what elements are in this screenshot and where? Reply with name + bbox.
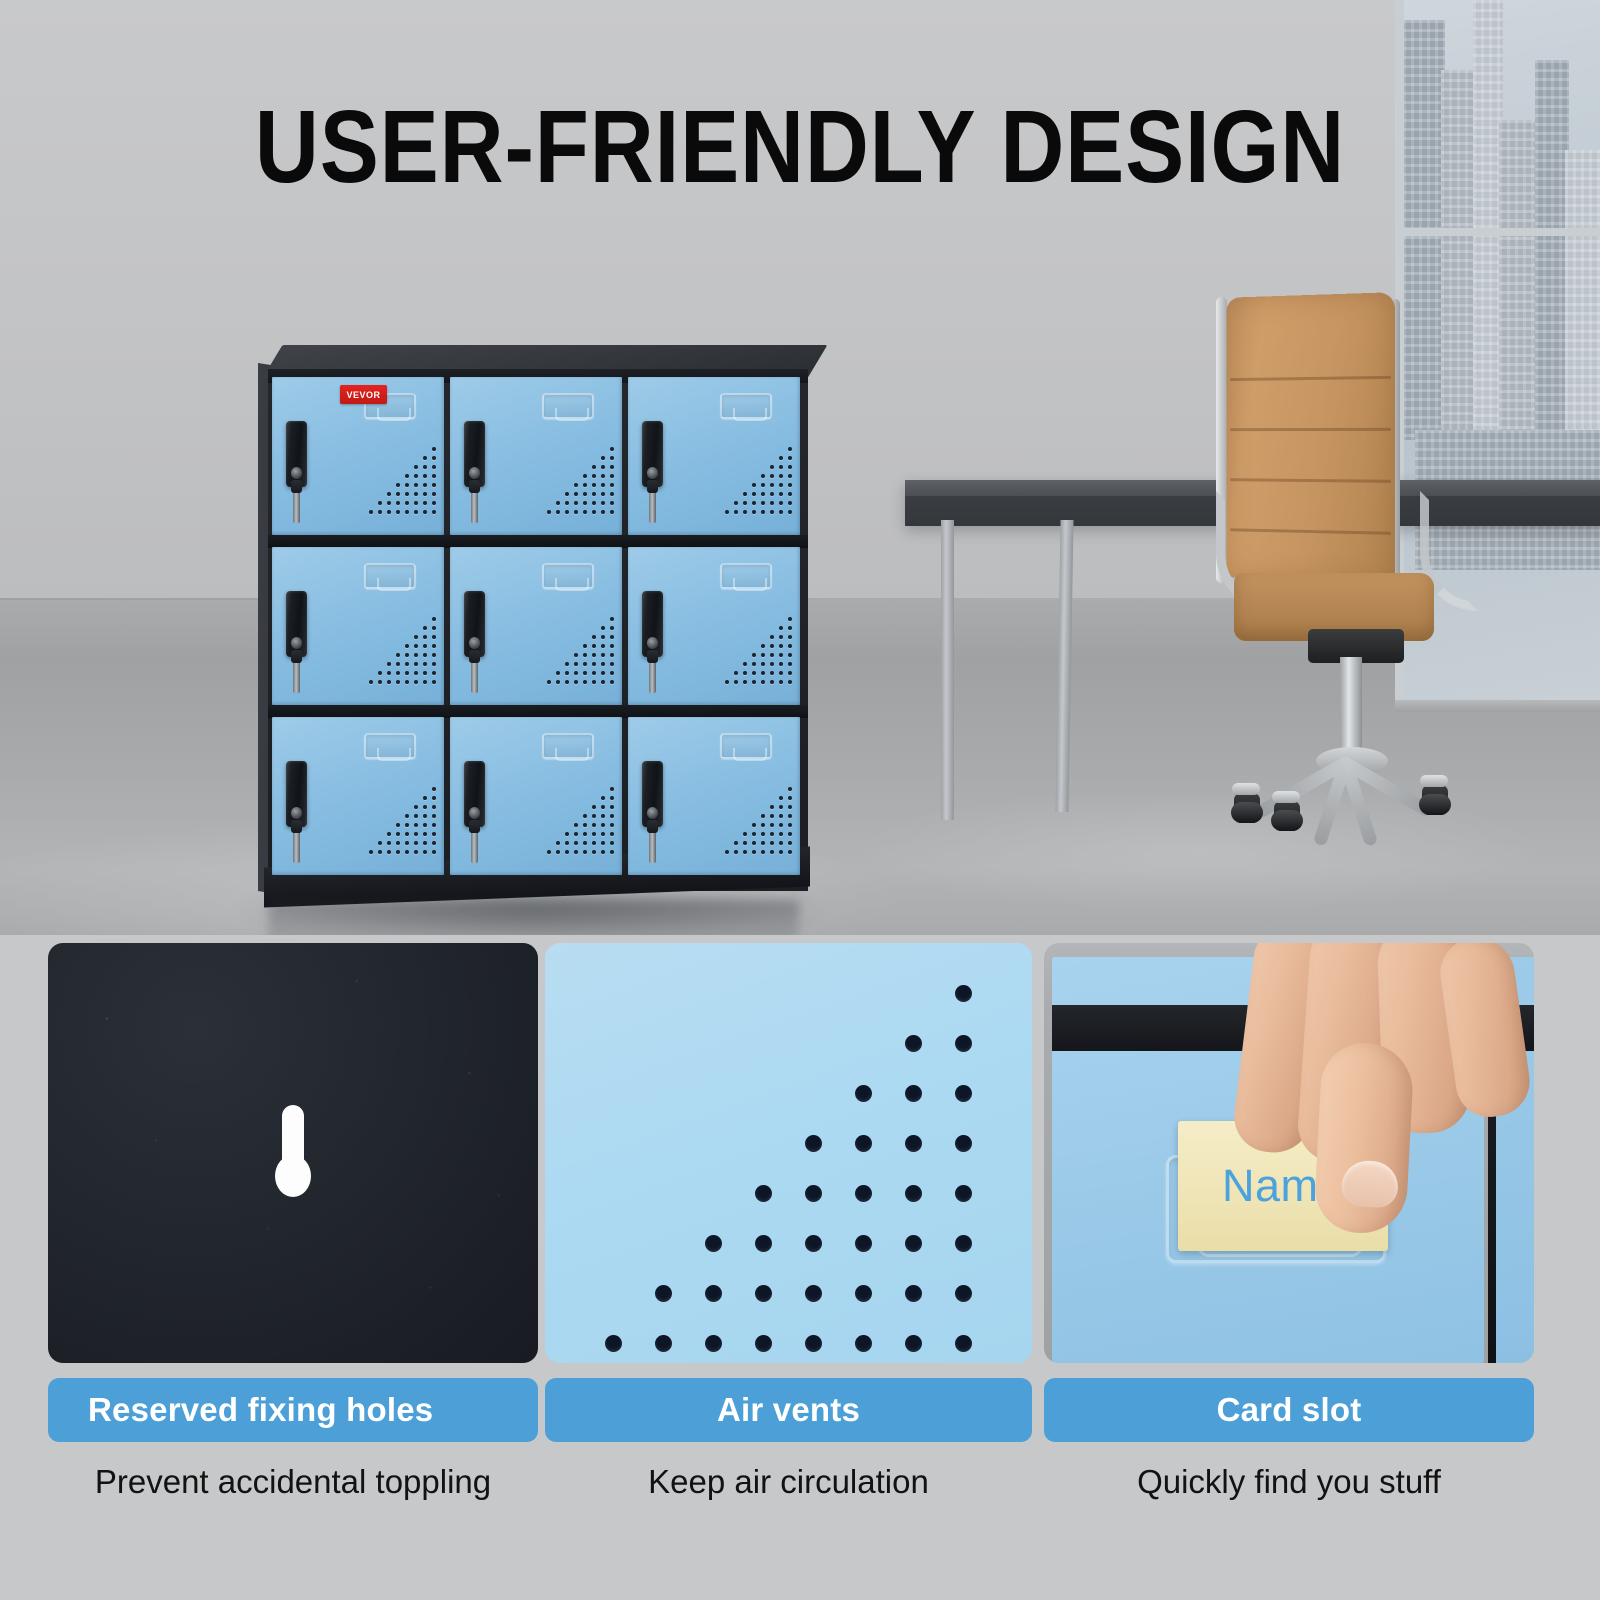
door-key[interactable] <box>293 489 300 523</box>
vent-hole <box>705 1235 722 1252</box>
chair-caster <box>1272 791 1300 803</box>
vent-hole <box>955 1285 972 1302</box>
vent-hole <box>855 1185 872 1202</box>
feature-label-air-vents: Air vents <box>545 1378 1032 1442</box>
door-lock-handle[interactable] <box>464 421 485 487</box>
door-key[interactable] <box>649 489 656 523</box>
office-chair <box>1190 295 1490 855</box>
chair-caster <box>1422 785 1448 815</box>
door-card-slot <box>542 563 594 589</box>
door-lock-handle[interactable] <box>642 591 663 657</box>
door-lock-handle[interactable] <box>464 591 485 657</box>
locker-door[interactable] <box>272 717 444 875</box>
door-lock-handle[interactable] <box>286 591 307 657</box>
feature-strip: Reserved fixing holes Prevent accidental… <box>0 935 1600 1600</box>
vent-hole <box>755 1185 772 1202</box>
keyhole-slot <box>282 1105 304 1183</box>
vent-hole <box>905 1185 922 1202</box>
door-vent-holes <box>720 447 790 523</box>
door-vent-holes <box>542 447 612 523</box>
vent-hole <box>605 1335 622 1352</box>
vent-hole <box>905 1285 922 1302</box>
vent-hole <box>805 1335 822 1352</box>
product-infographic: VEVOR USER-FRIENDLY DESIGN Reserved fixi… <box>0 0 1600 1600</box>
door-card-slot <box>720 733 772 759</box>
vent-hole <box>855 1285 872 1302</box>
keyhole-icon <box>275 1105 311 1225</box>
feature-caption-card-slot: Quickly find you stuff <box>1044 1463 1534 1501</box>
hand-inserting-card <box>1230 943 1530 1253</box>
door-key[interactable] <box>293 829 300 863</box>
door-vent-holes <box>542 617 612 693</box>
vent-hole <box>855 1335 872 1352</box>
desk-leg <box>941 520 954 820</box>
vent-hole <box>855 1135 872 1152</box>
vevor-logo-badge: VEVOR <box>340 385 387 404</box>
vent-hole <box>755 1235 772 1252</box>
vent-hole <box>955 1135 972 1152</box>
vent-hole <box>905 1085 922 1102</box>
vent-hole <box>905 1135 922 1152</box>
keyhole-bulb <box>275 1155 311 1197</box>
door-lock-handle[interactable] <box>286 421 307 487</box>
vent-hole <box>955 1035 972 1052</box>
vent-hole <box>755 1285 772 1302</box>
locker-door[interactable] <box>450 377 622 535</box>
locker-door[interactable] <box>450 717 622 875</box>
vent-hole <box>955 1085 972 1102</box>
vent-hole <box>955 1235 972 1252</box>
vent-hole <box>905 1235 922 1252</box>
page-title: USER-FRIENDLY DESIGN <box>112 95 1488 198</box>
chair-caster <box>1232 783 1260 795</box>
door-key[interactable] <box>293 659 300 693</box>
vent-hole <box>655 1335 672 1352</box>
feature-caption-air-vents: Keep air circulation <box>545 1463 1032 1501</box>
chair-caster <box>1274 801 1300 831</box>
locker-door[interactable] <box>272 547 444 705</box>
hero-scene: VEVOR USER-FRIENDLY DESIGN <box>0 0 1600 935</box>
vent-hole <box>705 1285 722 1302</box>
door-lock-handle[interactable] <box>286 761 307 827</box>
chair-caster <box>1234 793 1260 823</box>
locker-door[interactable] <box>628 717 800 875</box>
door-card-slot <box>720 393 772 419</box>
locker-door[interactable] <box>628 377 800 535</box>
door-vent-holes <box>364 447 434 523</box>
vent-hole-pattern <box>545 943 1032 1363</box>
door-lock-handle[interactable] <box>642 761 663 827</box>
door-card-slot <box>542 393 594 419</box>
locker-doors-grid <box>272 377 806 877</box>
vent-hole <box>905 1035 922 1052</box>
vent-hole <box>905 1335 922 1352</box>
door-card-slot <box>720 563 772 589</box>
vent-hole <box>805 1135 822 1152</box>
vent-hole <box>705 1335 722 1352</box>
vent-hole <box>955 1335 972 1352</box>
vent-hole <box>955 1185 972 1202</box>
air-vents-photo <box>545 943 1032 1363</box>
door-key[interactable] <box>649 829 656 863</box>
vent-hole <box>855 1085 872 1102</box>
locker-door[interactable] <box>628 547 800 705</box>
door-vent-holes <box>720 617 790 693</box>
card-slot-photo: Name <box>1044 943 1534 1363</box>
door-key[interactable] <box>649 659 656 693</box>
door-key[interactable] <box>471 489 478 523</box>
vent-hole <box>655 1285 672 1302</box>
feature-caption-fixing-holes: Prevent accidental toppling <box>48 1463 538 1501</box>
fixing-hole-photo <box>48 943 538 1363</box>
vent-hole <box>805 1235 822 1252</box>
vent-hole <box>855 1235 872 1252</box>
feature-label-fixing-holes: Reserved fixing holes <box>48 1378 538 1442</box>
door-vent-holes <box>364 617 434 693</box>
door-key[interactable] <box>471 659 478 693</box>
door-lock-handle[interactable] <box>464 761 485 827</box>
window-mullion <box>1395 228 1600 236</box>
door-vent-holes <box>364 787 434 863</box>
locker-door[interactable] <box>450 547 622 705</box>
vent-hole <box>805 1185 822 1202</box>
door-card-slot <box>542 733 594 759</box>
door-card-slot <box>364 563 416 589</box>
locker-cabinet: VEVOR <box>258 345 818 910</box>
locker-floor-reflection <box>267 900 799 935</box>
vent-hole <box>955 985 972 1002</box>
vent-hole <box>755 1335 772 1352</box>
door-vent-holes <box>542 787 612 863</box>
door-card-slot <box>364 733 416 759</box>
chair-caster <box>1420 775 1448 787</box>
door-key[interactable] <box>471 829 478 863</box>
chair-gas-cylinder <box>1340 657 1362 755</box>
door-vent-holes <box>720 787 790 863</box>
feature-label-card-slot: Card slot <box>1044 1378 1534 1442</box>
vent-hole <box>805 1285 822 1302</box>
door-lock-handle[interactable] <box>642 421 663 487</box>
